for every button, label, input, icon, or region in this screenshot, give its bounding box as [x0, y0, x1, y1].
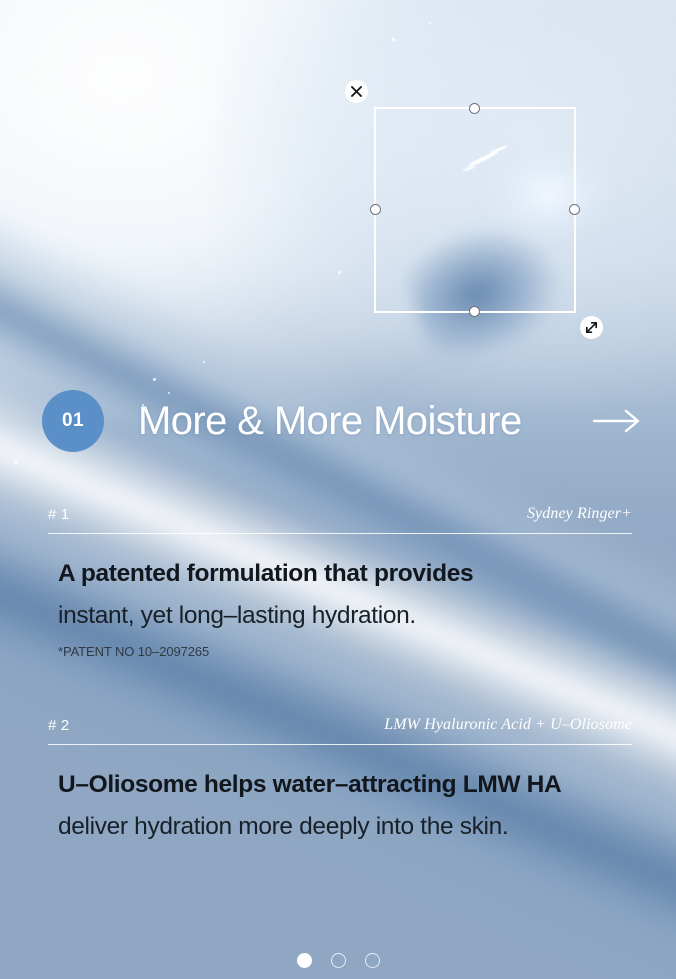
feature-tag: Sydney Ringer+ [527, 505, 632, 523]
sparkle-fleck [153, 378, 156, 381]
crop-handle-top[interactable] [469, 103, 480, 114]
sparkle-fleck [203, 361, 205, 363]
sparkle-fleck [14, 460, 18, 464]
feature-subline: instant, yet long–lasting hydration. [58, 604, 632, 629]
feature-headline: U–Oliosome helps water–attracting LMW HA [58, 773, 632, 798]
step-number-badge: 01 [42, 390, 104, 452]
page-title: More & More Moisture [138, 399, 522, 444]
sparkle-fleck [338, 271, 341, 274]
feature-body: A patented formulation that provides ins… [48, 534, 632, 659]
crop-handle-right[interactable] [569, 204, 580, 215]
close-icon [351, 86, 362, 97]
feature-block-2: # 2 LMW Hyaluronic Acid + U–Oliosome U–O… [48, 716, 632, 839]
feature-body: U–Oliosome helps water–attracting LMW HA… [48, 745, 632, 839]
feature-meta: # 1 Sydney Ringer+ [48, 505, 632, 534]
feature-headline: A patented formulation that provides [58, 562, 632, 587]
feature-note: *PATENT NO 10–2097265 [58, 644, 632, 659]
crop-selection-box[interactable] [374, 107, 576, 313]
step-number-label: 01 [62, 410, 84, 432]
resize-diagonal-icon [585, 321, 598, 334]
crop-close-button[interactable] [345, 80, 368, 103]
pagination-dot-3[interactable] [365, 953, 380, 968]
feature-index: # 1 [48, 506, 69, 523]
sparkle-fleck [429, 22, 431, 24]
feature-block-1: # 1 Sydney Ringer+ A patented formulatio… [48, 505, 632, 659]
pagination-dot-1[interactable] [297, 953, 312, 968]
feature-tag: LMW Hyaluronic Acid + U–Oliosome [384, 716, 632, 734]
next-slide-button[interactable] [590, 401, 644, 441]
headline-row: 01 More & More Moisture [42, 390, 640, 452]
product-slide: 01 More & More Moisture # 1 Sydney Ringe… [0, 0, 676, 979]
feature-index: # 2 [48, 717, 69, 734]
feature-meta: # 2 LMW Hyaluronic Acid + U–Oliosome [48, 716, 632, 745]
pagination-dot-2[interactable] [331, 953, 346, 968]
pagination-dots [0, 953, 676, 968]
crop-handle-left[interactable] [370, 204, 381, 215]
sparkle-fleck [392, 38, 395, 41]
arrow-right-icon [592, 408, 642, 434]
crop-resize-button[interactable] [580, 316, 603, 339]
crop-handle-bottom[interactable] [469, 306, 480, 317]
feature-subline: deliver hydration more deeply into the s… [58, 815, 632, 840]
sparkle-fleck [196, 33, 198, 35]
